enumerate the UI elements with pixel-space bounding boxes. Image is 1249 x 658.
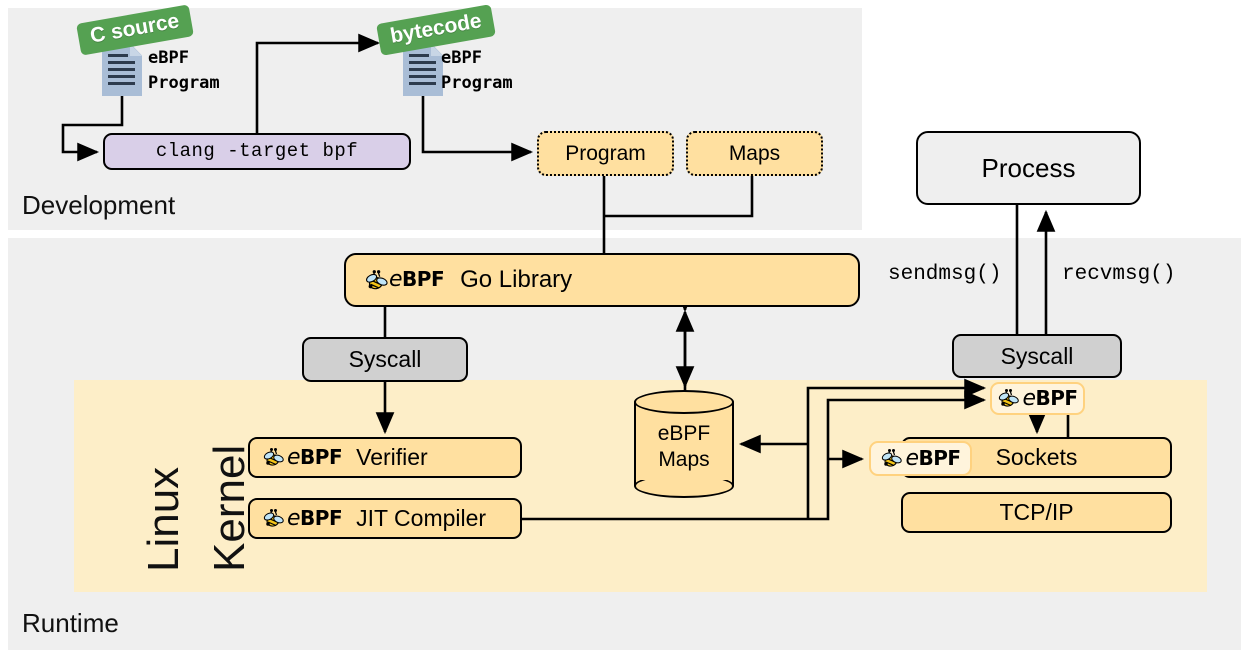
ebpf-syscall-hook-badge[interactable]: eBPF	[990, 382, 1085, 415]
bee-icon	[262, 448, 286, 468]
development-section-label: Development	[22, 190, 175, 221]
jit-compiler-box[interactable]: eBPF JIT Compiler	[248, 498, 522, 539]
ebpf-wordmark: eBPF	[287, 508, 342, 530]
tcpip-box[interactable]: TCP/IP	[901, 492, 1172, 533]
ebpf-bee-logo: eBPF	[262, 508, 342, 530]
verifier-box[interactable]: eBPF Verifier	[248, 437, 522, 478]
ebpf-wordmark: eBPF	[905, 448, 960, 470]
verifier-label: Verifier	[356, 446, 428, 469]
syscall-box-right[interactable]: Syscall	[952, 334, 1122, 378]
bee-icon	[880, 449, 904, 469]
maps-box[interactable]: Maps	[686, 131, 823, 176]
program-box[interactable]: Program	[537, 131, 674, 176]
diagram-canvas: Development Runtime Linux Kernel C sourc…	[0, 0, 1249, 658]
recvmsg-label: recvmsg()	[1062, 263, 1175, 286]
bytecode-document-icon	[403, 44, 443, 96]
ebpf-bee-logo: eBPF	[262, 447, 342, 469]
ebpf-bee-logo: eBPF	[364, 269, 444, 291]
ebpf-go-library-box[interactable]: eBPF Go Library	[344, 253, 860, 307]
syscall-box-left[interactable]: Syscall	[302, 337, 468, 382]
ebpf-sockets-hook-badge[interactable]: eBPF	[869, 441, 972, 476]
bee-icon	[364, 270, 388, 290]
go-library-label: Go Library	[460, 268, 572, 292]
linux-kernel-label: Linux Kernel	[105, 400, 265, 575]
kernel-label-linux: Linux	[139, 467, 189, 572]
jit-compiler-label: JIT Compiler	[356, 507, 486, 530]
sendmsg-label: sendmsg()	[888, 263, 1001, 286]
ebpf-maps-line1: eBPF	[658, 421, 711, 447]
ebpf-maps-cylinder[interactable]: eBPF Maps	[634, 390, 736, 498]
ebpf-maps-line2: Maps	[658, 447, 709, 473]
process-box[interactable]: Process	[916, 131, 1141, 205]
c-source-doc-label: eBPF Program	[148, 46, 220, 95]
bytecode-doc-label: eBPF Program	[441, 46, 513, 95]
ebpf-bee-logo: eBPF	[880, 448, 960, 470]
ebpf-wordmark: eBPF	[389, 269, 444, 291]
clang-command-box[interactable]: clang -target bpf	[103, 133, 411, 170]
ebpf-bee-logo: eBPF	[997, 388, 1077, 410]
c-source-document-icon	[102, 44, 142, 96]
ebpf-wordmark: eBPF	[287, 447, 342, 469]
runtime-section-label: Runtime	[22, 608, 119, 639]
ebpf-wordmark: eBPF	[1022, 388, 1077, 410]
bee-icon	[262, 509, 286, 529]
bee-icon	[997, 389, 1021, 409]
